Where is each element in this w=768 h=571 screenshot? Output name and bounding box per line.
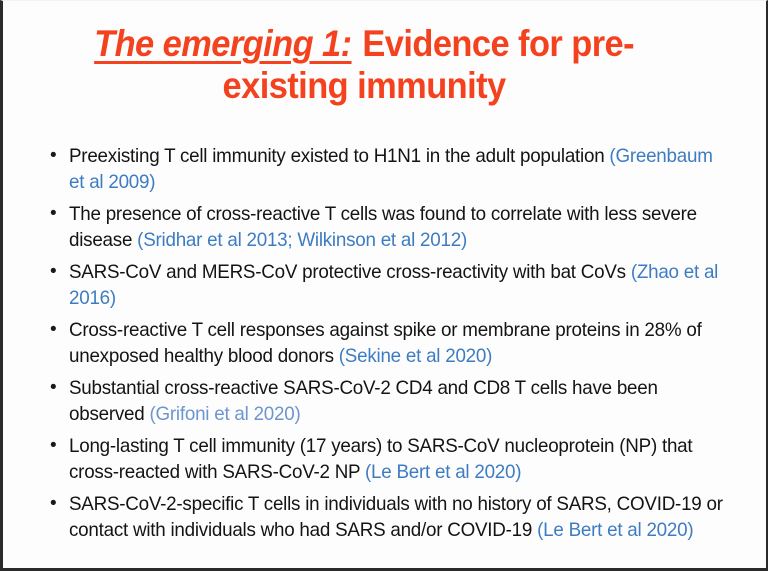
bullet-point-icon: • (47, 375, 69, 401)
bullet-point-icon: • (47, 259, 69, 285)
list-item: •SARS-CoV and MERS-CoV protective cross-… (47, 259, 747, 311)
bullet-text: Preexisting T cell immunity existed to H… (69, 143, 723, 195)
slide-title: The emerging 1: Evidence for pre-existin… (33, 23, 695, 107)
bullet-list: •Preexisting T cell immunity existed to … (47, 143, 747, 549)
list-item: •Substantial cross-reactive SARS-CoV-2 C… (47, 375, 747, 427)
bullet-statement: SARS-CoV and MERS-CoV protective cross-r… (69, 261, 631, 283)
bullet-point-icon: • (47, 433, 69, 459)
list-item: •SARS-CoV-2-specific T cells in individu… (47, 491, 747, 543)
bullet-text: SARS-CoV-2-specific T cells in individua… (69, 491, 723, 543)
bullet-text: Cross-reactive T cell responses against … (69, 317, 723, 369)
bullet-citation: (Grifoni et al 2020) (149, 403, 300, 425)
bullet-point-icon: • (47, 201, 69, 227)
bullet-point-icon: • (47, 491, 69, 517)
list-item: •Preexisting T cell immunity existed to … (47, 143, 747, 195)
bullet-text: SARS-CoV and MERS-CoV protective cross-r… (69, 259, 723, 311)
bullet-point-icon: • (47, 317, 69, 343)
bullet-text: Long-lasting T cell immunity (17 years) … (69, 433, 723, 485)
bullet-citation: (Le Bert et al 2020) (365, 461, 521, 483)
list-item: •Long-lasting T cell immunity (17 years)… (47, 433, 747, 485)
slide-canvas: The emerging 1: Evidence for pre-existin… (0, 0, 768, 571)
bullet-statement: Preexisting T cell immunity existed to H… (69, 145, 609, 167)
bullet-citation: (Le Bert et al 2020) (537, 519, 693, 541)
bullet-text: Substantial cross-reactive SARS-CoV-2 CD… (69, 375, 723, 427)
bullet-point-icon: • (47, 143, 69, 169)
bullet-text: The presence of cross-reactive T cells w… (69, 201, 723, 253)
bullet-citation: (Sridhar et al 2013; Wilkinson et al 201… (137, 229, 467, 251)
list-item: •The presence of cross-reactive T cells … (47, 201, 747, 253)
title-emphasis: The emerging 1: (94, 23, 353, 64)
list-item: •Cross-reactive T cell responses against… (47, 317, 747, 369)
bullet-citation: (Sekine et al 2020) (339, 345, 492, 367)
